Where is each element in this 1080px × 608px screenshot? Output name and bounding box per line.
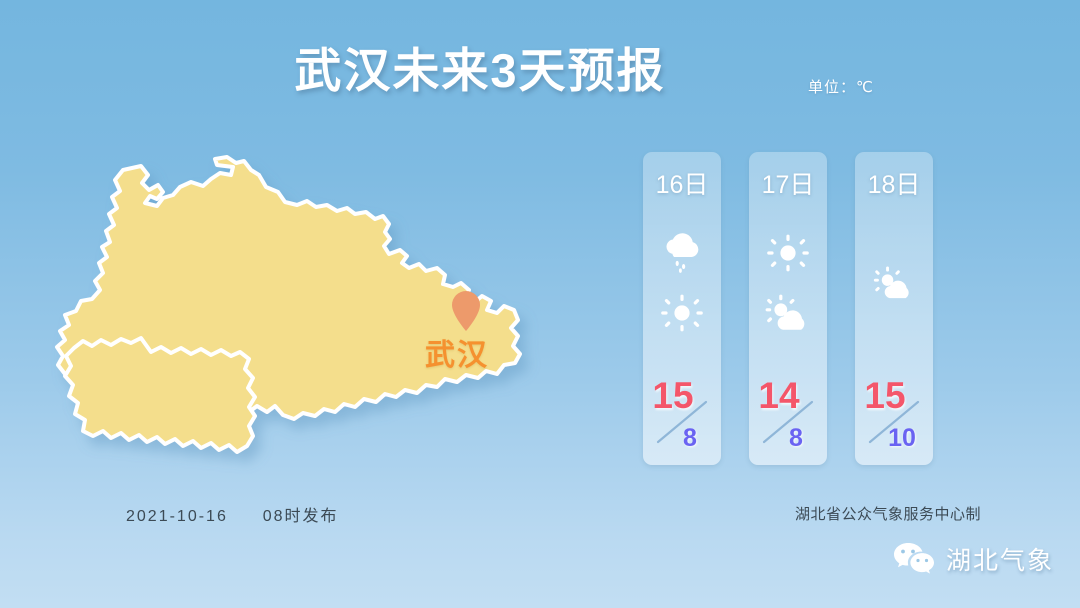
issue-date: 2021-10-16 — [126, 508, 228, 525]
brand-watermark: 湖北气象 — [893, 541, 1054, 577]
organization-credit: 湖北省公众气象服务中心制 — [795, 503, 981, 524]
forecast-card-day2[interactable]: 17日 — [749, 152, 827, 465]
temp-low-day3: 10 — [877, 426, 927, 451]
wechat-icon — [893, 541, 935, 577]
sun-behind-cloud-icon — [871, 265, 917, 301]
forecast-date-day2: 17日 — [762, 165, 815, 201]
issue-hour: 08时发布 — [263, 508, 339, 525]
rain-cloud-icon — [656, 233, 708, 273]
forecast-poster: 武汉未来3天预报 单位：℃ 武汉 16日 — [0, 0, 1080, 608]
forecast-date-day3: 18日 — [868, 165, 921, 201]
forecast-icons-day1 — [643, 201, 721, 373]
brand-name: 湖北气象 — [946, 541, 1054, 577]
forecast-temps-day2: 14 8 — [749, 373, 827, 465]
forecast-icons-day3 — [855, 201, 933, 373]
map-shape — [57, 157, 520, 452]
sun-icon — [656, 293, 708, 333]
forecast-temps-day1: 15 8 — [643, 373, 721, 465]
forecast-temps-day3: 15 10 — [855, 373, 933, 465]
temp-low-day2: 8 — [771, 426, 821, 451]
unit-label: 单位：℃ — [808, 76, 874, 97]
forecast-card-day3[interactable]: 18日 15 — [855, 152, 933, 465]
forecast-date-day1: 16日 — [656, 165, 709, 201]
hubei-map — [45, 150, 615, 460]
sun-behind-cloud-icon — [762, 293, 814, 333]
forecast-icons-day2 — [749, 201, 827, 373]
wuhan-city-label: 武汉 — [412, 330, 502, 374]
temp-low-day1: 8 — [665, 426, 715, 451]
forecast-card-day1[interactable]: 16日 — [643, 152, 721, 465]
issue-time: 2021-10-16 08时发布 — [126, 502, 339, 526]
sun-icon — [762, 233, 814, 273]
forecast-cards: 16日 — [643, 152, 933, 465]
